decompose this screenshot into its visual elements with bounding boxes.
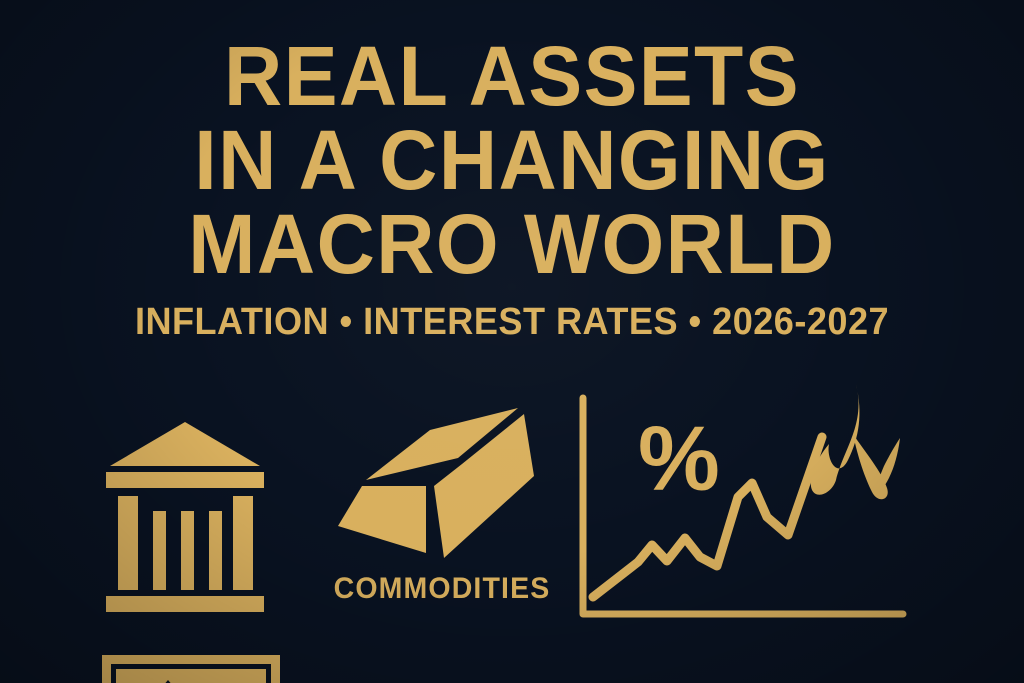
ingot-end-face [338, 486, 426, 553]
pediment-shape [110, 422, 260, 466]
headline-line-1: REAL ASSETS [20, 34, 1003, 118]
column-2 [153, 511, 166, 590]
poster-canvas: REAL ASSETS IN A CHANGING MACRO WORLD IN… [0, 0, 1024, 683]
architrave-bar [106, 472, 264, 488]
flame-inner-stroke [853, 434, 888, 499]
column-4 [209, 511, 222, 590]
percent-symbol: % [638, 408, 720, 510]
commodities-label: COMMODITIES [324, 572, 560, 606]
gold-bar-glyph [318, 380, 566, 570]
rate-chart-glyph: % [560, 380, 930, 630]
bank-institution-icon [100, 380, 320, 640]
bank-institution-glyph [100, 380, 320, 630]
base-bar [106, 596, 264, 612]
column-1 [118, 496, 138, 590]
gold-bar-icon: COMMODITIES [318, 380, 566, 640]
column-3 [181, 511, 194, 590]
page-title: REAL ASSETS IN A CHANGING MACRO WORLD [0, 34, 1024, 286]
frame-canvas [116, 669, 266, 683]
icon-row: COMMODITIES % [0, 380, 1024, 640]
subtitle: INFLATION • INTEREST RATES • 2026-2027 [26, 302, 999, 342]
headline-line-2: IN A CHANGING [20, 118, 1003, 202]
column-5 [233, 496, 253, 590]
rising-rate-chart-icon: % [560, 380, 930, 640]
headline-line-3: MACRO WORLD [20, 202, 1003, 286]
flame-tail-stroke [875, 438, 900, 496]
framed-landscape-icon [102, 655, 280, 683]
